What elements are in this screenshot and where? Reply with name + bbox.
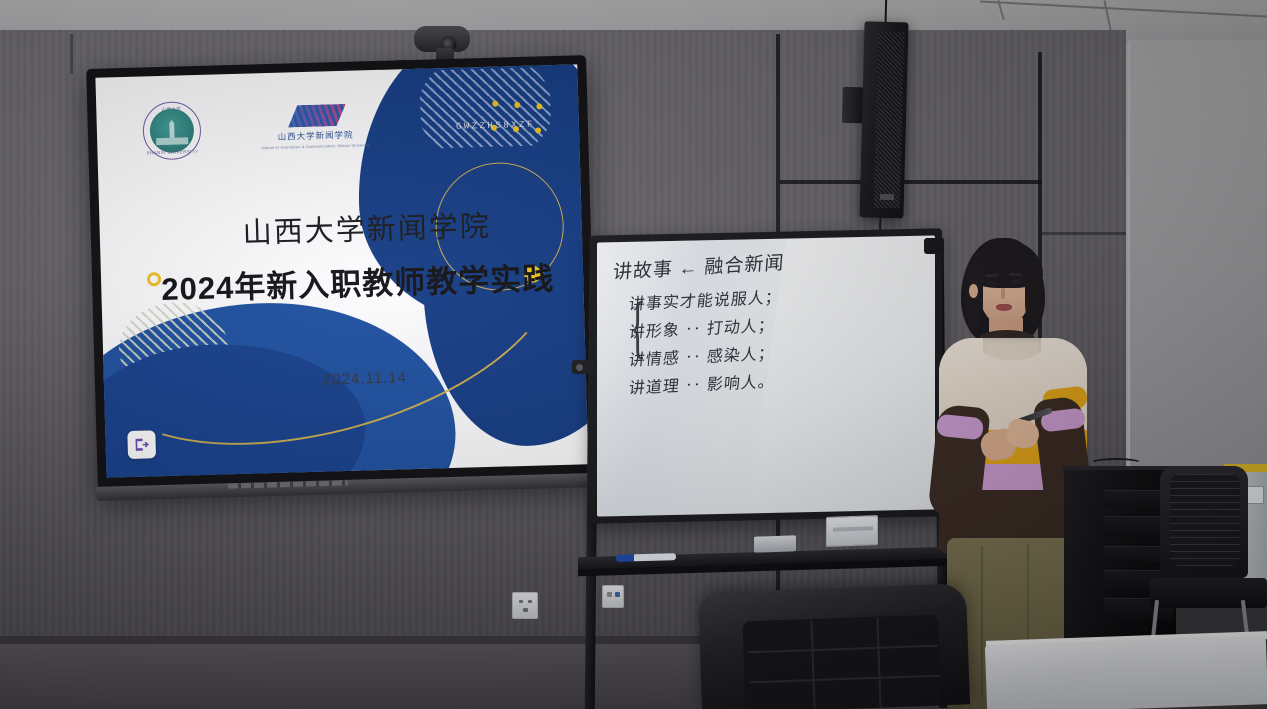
whiteboard-eraser-icon[interactable]	[754, 535, 796, 552]
slide-decor-dot	[492, 101, 498, 107]
presenter-mouth	[996, 304, 1012, 311]
chair-seat	[1150, 578, 1267, 608]
interactive-flat-panel-display[interactable]: GWZZHS8XZF 山西大学 SHANXI UNIVERSITY 山西大学新闻…	[86, 55, 598, 494]
classroom-scene: GWZZHS8XZF 山西大学 SHANXI UNIVERSITY 山西大学新闻…	[0, 0, 1267, 709]
school-logo-mark	[284, 104, 347, 128]
university-seal-icon: 山西大学 SHANXI UNIVERSITY	[142, 101, 202, 161]
speaker-grille-icon	[874, 32, 905, 209]
whiteboard-pivot-dot	[576, 364, 583, 371]
power-socket[interactable]	[512, 592, 538, 619]
slide-decor-hatch	[419, 67, 551, 149]
socket-slot	[528, 600, 532, 603]
presenter-ear	[969, 284, 978, 298]
trouser-crease	[981, 546, 983, 696]
wall-panel-seam	[1042, 232, 1126, 235]
exit-icon-button[interactable]	[127, 430, 156, 459]
marker-box[interactable]	[826, 515, 878, 547]
journalism-school-logo-icon: 山西大学新闻学院 School of Journalism & Communic…	[260, 103, 370, 150]
presenter-nose	[1001, 288, 1005, 299]
seal-base	[156, 137, 188, 145]
whiteboard-frame: 讲故事 ← 融合新闻 { 讲事实才能说服人； 讲形象 ‥ 打动人； 讲情感 ‥ …	[590, 228, 942, 523]
chair-mesh-back	[1170, 474, 1240, 566]
whiteboard-line-list: 讲事实才能说服人； 讲形象 ‥ 打动人； 讲情感 ‥ 感染人； 讲道理 ‥ 影响…	[613, 281, 913, 395]
seal-building-icon	[162, 120, 182, 139]
slide-canvas[interactable]: GWZZHS8XZF 山西大学 SHANXI UNIVERSITY 山西大学新闻…	[95, 64, 588, 477]
foreground-chair-back-panel	[742, 615, 941, 709]
wall-panel-seam	[70, 34, 73, 74]
speaker-badge	[880, 194, 894, 200]
conference-table	[985, 635, 1267, 709]
ceiling-grid-line	[980, 0, 1267, 17]
presenter-eye	[1011, 280, 1022, 284]
whiteboard-surface[interactable]: 讲故事 ← 融合新闻 { 讲事实才能说服人； 讲形象 ‥ 打动人； 讲情感 ‥ …	[597, 235, 935, 516]
presenter-eye	[986, 281, 997, 285]
socket-slot	[519, 600, 523, 603]
slide-logo-row: 山西大学 SHANXI UNIVERSITY 山西大学新闻学院 School o…	[142, 96, 371, 160]
right-wall	[1128, 40, 1267, 510]
exit-icon	[133, 436, 149, 452]
wall-mounted-column-speaker	[855, 9, 921, 230]
seal-emblem	[149, 108, 194, 153]
sweater-neckline	[983, 338, 1041, 360]
whiteboard-handwriting: 讲故事 ← 融合新闻 { 讲事实才能说服人； 讲形象 ‥ 打动人； 讲情感 ‥ …	[613, 246, 913, 399]
school-name-cn: 山西大学新闻学院	[277, 129, 353, 143]
seal-text-bottom: SHANXI UNIVERSITY	[144, 149, 200, 156]
school-name-en: School of Journalism & Communication, Sh…	[261, 143, 370, 150]
display-brand-label	[406, 458, 462, 468]
socket-slot	[523, 608, 528, 612]
marker-box-label	[833, 526, 873, 531]
